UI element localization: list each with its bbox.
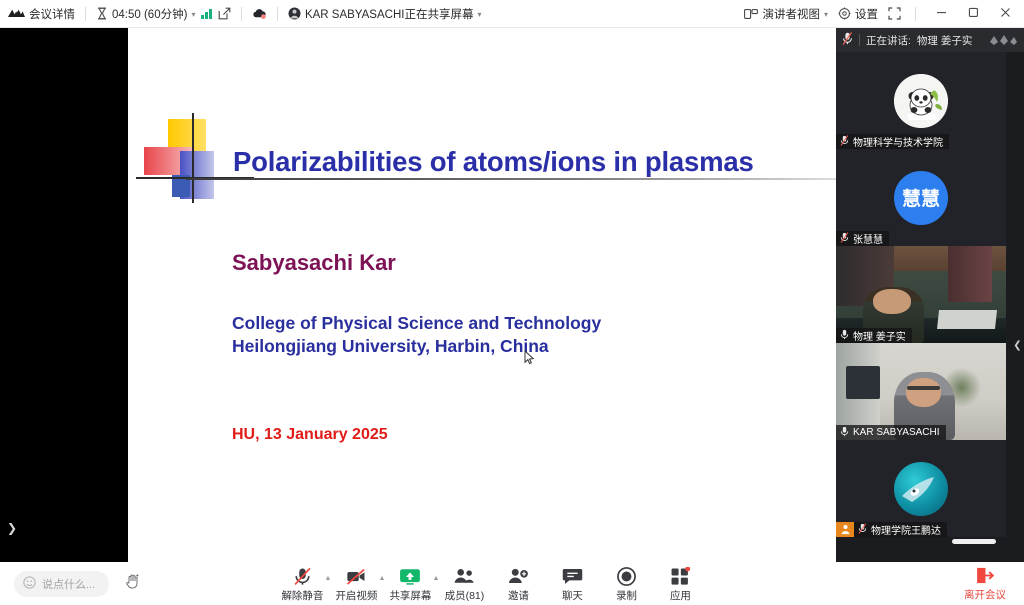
view-mode-button[interactable]: 演讲者视图 ▾: [744, 6, 828, 22]
audio-waveform-icon: [988, 33, 1018, 47]
share-screen-label: 共享屏幕: [389, 588, 431, 603]
bottom-center-controls: 解除静音 ▲ 开启视频 ▲: [275, 565, 707, 603]
participant-tile[interactable]: 慧慧 张慧慧: [836, 149, 1006, 246]
close-icon: [1000, 7, 1011, 21]
microphone-muted-icon: [840, 232, 849, 246]
active-speaker-bar: 正在讲话: 物理 姜子实: [836, 28, 1024, 52]
emoji-smiley-icon: [23, 576, 36, 592]
unmute-label: 解除静音: [281, 588, 323, 603]
record-label: 录制: [616, 588, 637, 603]
camera-muted-icon: [346, 567, 366, 586]
participant-nameplate: 物理 姜子实: [836, 328, 912, 343]
video-person-glasses: [907, 386, 939, 390]
speaking-label: 正在讲话:: [866, 33, 911, 48]
zoom-logo-icon: [8, 8, 25, 20]
logo-vertical-line: [192, 113, 194, 203]
shared-screen-slide[interactable]: Polarizabilities of atoms/ions in plasma…: [128, 28, 836, 562]
top-bar-left-group: 会议详情 04:50 (60分钟) ▾: [0, 6, 481, 22]
hourglass-icon: [96, 7, 108, 20]
network-signal-button[interactable]: [201, 8, 212, 19]
meeting-stage: ❯ Polarizabilities of atoms/ions in plas…: [0, 28, 1024, 562]
close-button[interactable]: [994, 4, 1016, 24]
leave-meeting-icon: [975, 566, 995, 585]
quick-chat-placeholder: 说点什么...: [42, 576, 95, 592]
participant-tile-active-speaker[interactable]: 物理 姜子实: [836, 246, 1006, 343]
chat-label: 聊天: [562, 588, 583, 603]
slide-affiliation-line2: Heilongjiang University, Harbin, China: [232, 335, 601, 358]
avatar-initials: 慧慧: [902, 184, 940, 211]
participant-name: 物理 姜子实: [853, 328, 906, 343]
slide-title: Polarizabilities of atoms/ions in plasma…: [233, 146, 836, 178]
avatar: 慧慧: [894, 171, 948, 225]
video-bg-region: [948, 246, 992, 302]
video-bg-region: [846, 366, 880, 399]
chevron-right-icon[interactable]: ❯: [5, 518, 19, 538]
divider: [85, 7, 86, 21]
participant-tile-list[interactable]: 物理科学与技术学院 慧慧: [836, 52, 1024, 562]
mouse-cursor-icon: [524, 350, 536, 366]
apps-button[interactable]: 应用: [653, 565, 707, 603]
speaking-name: 物理 姜子实: [917, 33, 972, 48]
video-person-face: [906, 378, 942, 407]
microphone-icon: [840, 329, 849, 343]
participants-button[interactable]: 成员(81): [437, 565, 491, 603]
apps-label: 应用: [670, 588, 691, 603]
participant-name: 物理科学与技术学院: [853, 134, 943, 149]
raise-hand-button[interactable]: [117, 571, 147, 597]
participant-nameplate: KAR SABYASACHI: [836, 425, 946, 440]
cloud-record-button[interactable]: [252, 8, 267, 20]
panel-collapse-button[interactable]: ❮: [1011, 328, 1024, 362]
slide-date: HU, 13 January 2025: [232, 426, 388, 444]
speaking-microphone-icon: [842, 32, 853, 48]
video-bg-region: [937, 310, 997, 329]
participant-panel: 正在讲话: 物理 姜子实: [836, 28, 1024, 562]
quick-chat-input[interactable]: 说点什么...: [14, 571, 109, 597]
divider: [859, 34, 860, 46]
settings-label: 设置: [855, 6, 878, 22]
participants-label: 成员(81): [445, 588, 485, 603]
participant-nameplate: 物理科学与技术学院: [836, 134, 949, 149]
chevron-down-icon: ▾: [477, 10, 481, 19]
bottom-toolbar: 说点什么...: [0, 562, 1024, 605]
bottom-left-group: 说点什么...: [0, 571, 147, 597]
microphone-icon: [840, 426, 849, 440]
view-mode-label: 演讲者视图: [762, 6, 820, 22]
gear-icon: [838, 7, 851, 20]
slide-affiliation: College of Physical Science and Technolo…: [232, 312, 601, 358]
minimize-icon: [936, 7, 947, 21]
popout-window-icon: [218, 7, 231, 20]
minimize-button[interactable]: [930, 4, 952, 24]
maximize-icon: [968, 7, 979, 21]
screen-share-icon: [399, 567, 421, 586]
participant-nameplate: 物理学院王鹏达: [854, 522, 947, 537]
microphone-muted-icon: [293, 567, 312, 586]
leave-meeting-button[interactable]: 离开会议: [964, 566, 1006, 602]
title-underline-rule: [186, 178, 836, 180]
chevron-left-icon: ❮: [1013, 340, 1021, 351]
leave-meeting-label: 离开会议: [964, 587, 1006, 602]
share-user-icon: [288, 7, 301, 20]
panel-horizontal-scrollbar[interactable]: [952, 539, 996, 544]
slide-decoration-logo: [136, 113, 246, 203]
participant-tile[interactable]: 物理科学与技术学院: [836, 52, 1006, 149]
invite-label: 邀请: [508, 588, 529, 603]
maximize-button[interactable]: [962, 4, 984, 24]
settings-button[interactable]: 设置: [838, 6, 878, 22]
participant-tile[interactable]: KAR SABYASACHI: [836, 343, 1006, 440]
fullscreen-button[interactable]: [888, 7, 901, 20]
video-person-face: [873, 289, 910, 314]
popout-window-button[interactable]: [218, 7, 231, 20]
meeting-info-button[interactable]: 会议详情: [8, 6, 75, 22]
network-signal-icon: [201, 8, 212, 19]
participants-icon: [453, 567, 475, 586]
record-button[interactable]: 录制: [599, 565, 653, 603]
screen-share-status[interactable]: KAR SABYASACHI正在共享屏幕 ▾: [288, 6, 482, 22]
bottom-right-group: 离开会议: [964, 566, 1024, 602]
top-bar-right-group: 演讲者视图 ▾ 设置: [744, 4, 1024, 24]
unmute-button[interactable]: 解除静音 ▲: [275, 565, 329, 603]
start-video-label: 开启视频: [335, 588, 377, 603]
cloud-record-icon: [252, 8, 267, 20]
participant-name: 张慧慧: [853, 231, 883, 246]
chevron-down-icon: ▾: [191, 10, 195, 19]
apps-grid-icon: [670, 567, 690, 586]
layout-view-icon: [744, 8, 758, 20]
microphone-muted-icon: [840, 135, 849, 149]
slide-affiliation-line1: College of Physical Science and Technolo…: [232, 312, 601, 335]
avatar: [894, 462, 948, 516]
chat-bubble-icon: [562, 567, 583, 586]
left-side-strip: ❯: [0, 28, 128, 562]
chat-button[interactable]: 聊天: [545, 565, 599, 603]
meeting-info-label: 会议详情: [29, 6, 75, 22]
meeting-timer-label: 04:50 (60分钟): [112, 6, 187, 22]
meeting-timer[interactable]: 04:50 (60分钟) ▾: [96, 6, 195, 22]
top-bar: 会议详情 04:50 (60分钟) ▾: [0, 0, 1024, 28]
participant-tile[interactable]: 物理学院王鹏达: [836, 440, 1006, 537]
share-screen-button[interactable]: 共享屏幕 ▲: [383, 565, 437, 603]
record-circle-icon: [617, 567, 636, 586]
divider: [277, 7, 278, 21]
participant-name: KAR SABYASACHI: [853, 427, 940, 438]
start-video-button[interactable]: 开启视频 ▲: [329, 565, 383, 603]
raise-hand-icon: [125, 573, 140, 594]
participant-nameplate: 张慧慧: [836, 231, 889, 246]
invite-button[interactable]: 邀请: [491, 565, 545, 603]
fullscreen-icon: [888, 7, 901, 20]
zoom-meeting-window: 会议详情 04:50 (60分钟) ▾: [0, 0, 1024, 605]
avatar: [894, 74, 948, 128]
host-badge: [836, 522, 854, 537]
participant-name: 物理学院王鹏达: [871, 522, 941, 537]
microphone-muted-icon: [858, 523, 867, 537]
screen-share-status-label: KAR SABYASACHI正在共享屏幕: [305, 6, 473, 22]
divider: [915, 7, 916, 21]
divider: [241, 7, 242, 21]
invite-user-icon: [507, 567, 529, 586]
chevron-down-icon: ▾: [824, 10, 828, 19]
slide-author: Sabyasachi Kar: [232, 250, 396, 276]
